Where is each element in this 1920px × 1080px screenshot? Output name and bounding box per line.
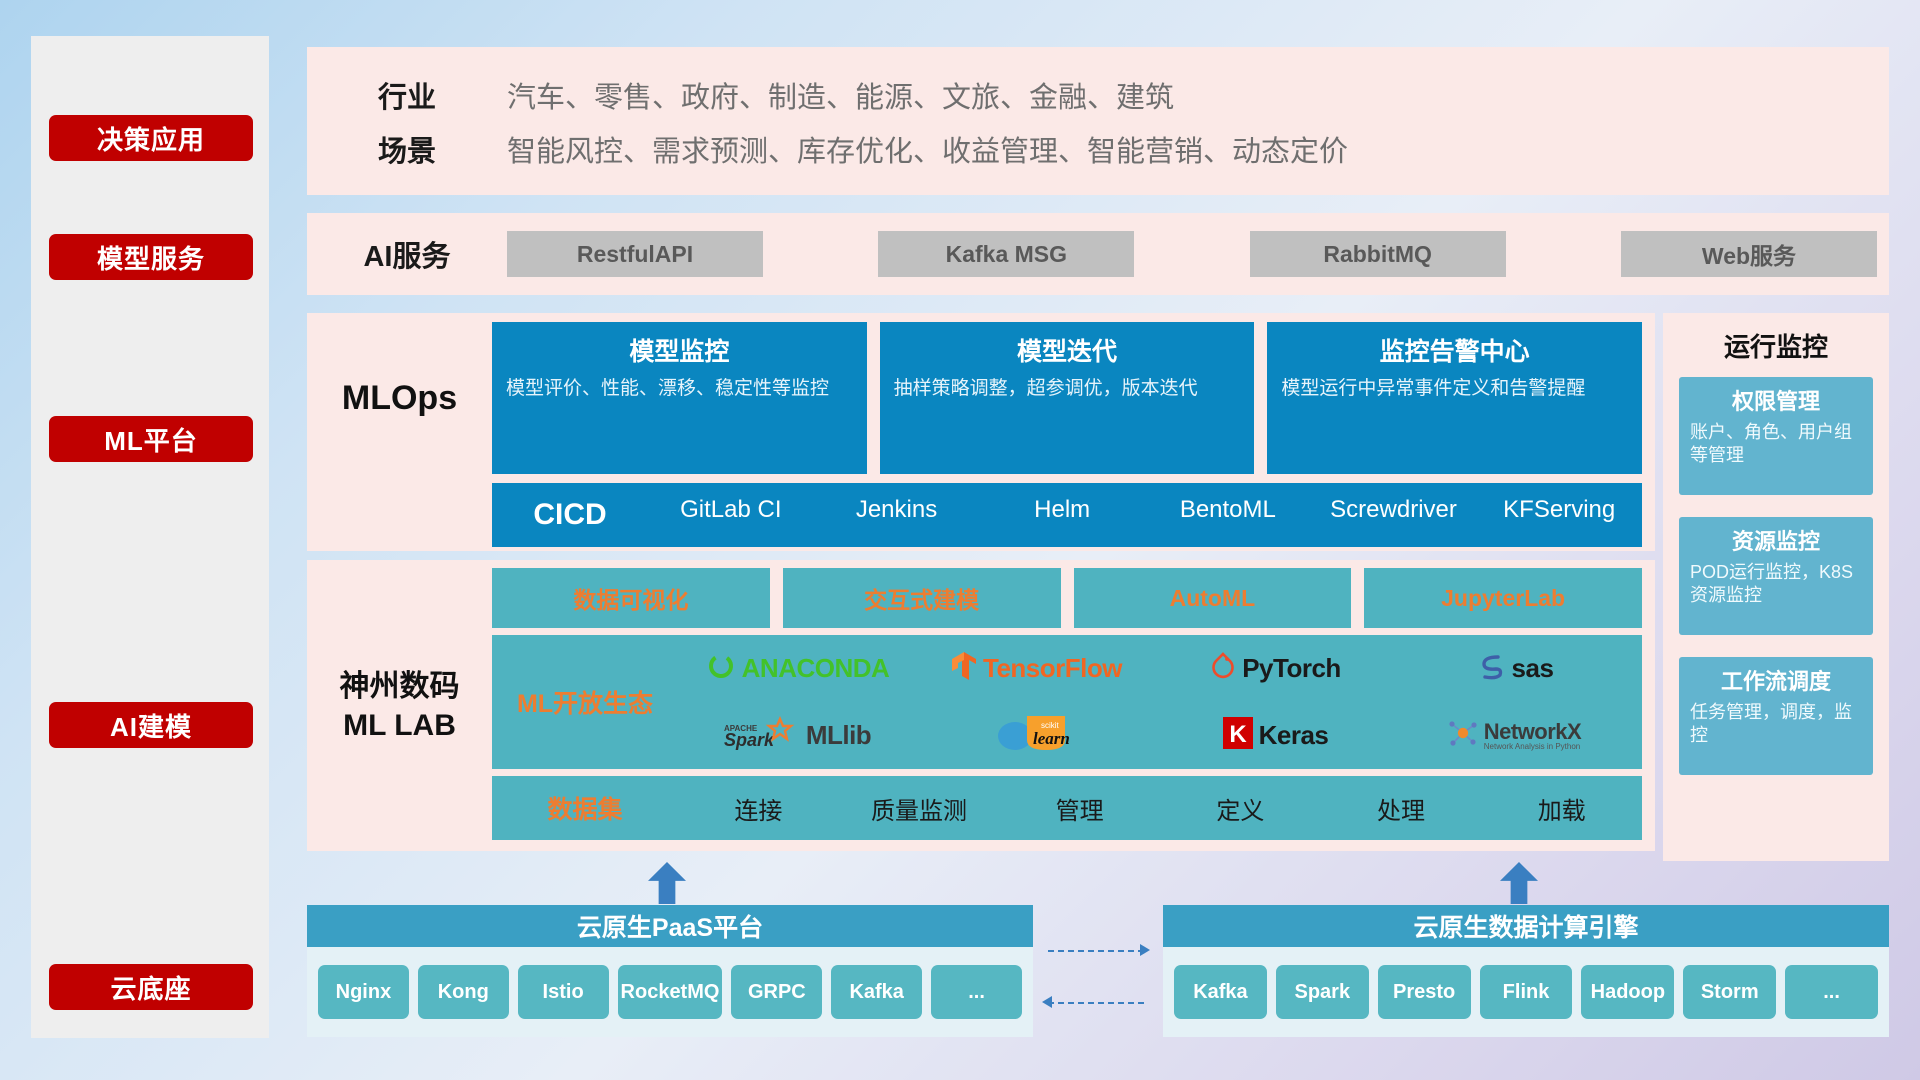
- ai-service-chip-restfulapi[interactable]: RestfulAPI: [507, 231, 763, 277]
- arrow-right-head-icon: [1140, 944, 1150, 956]
- svg-text:learn: learn: [1033, 729, 1070, 748]
- mlops-card-model-monitoring[interactable]: 模型监控 模型评价、性能、漂移、稳定性等监控: [492, 322, 867, 474]
- scenario-list: 智能风控、需求预测、库存优化、收益管理、智能营销、动态定价: [507, 128, 1348, 170]
- arrow-up-engine-icon: [1500, 862, 1538, 904]
- runtime-monitor-panel: 运行监控 权限管理 账户、角色、用户组等管理 资源监控 POD运行监控，K8S资…: [1663, 313, 1889, 861]
- scikit-learn-icon: scikit learn: [993, 712, 1081, 759]
- cloud-data-engine-block: 云原生数据计算引擎 Kafka Spark Presto Flink Hadoo…: [1163, 905, 1889, 1037]
- engine-chip-spark[interactable]: Spark: [1276, 965, 1369, 1019]
- ml-lab-tile-group: 数据可视化 交互式建模 AutoML JupyterLab: [492, 568, 1642, 628]
- rail-item-ai-modeling[interactable]: AI建模: [49, 702, 253, 748]
- cloud-chip-rocketmq[interactable]: RocketMQ: [618, 965, 723, 1019]
- cloud-data-engine-chip-group: Kafka Spark Presto Flink Hadoop Storm ..…: [1163, 947, 1889, 1037]
- ecosystem-logo-grid: ANACONDA TensorFlow: [678, 635, 1642, 769]
- dataset-item-quality-monitoring[interactable]: 质量监测: [839, 791, 1000, 826]
- arrow-left-dashed-icon: [1048, 1002, 1144, 1004]
- industry-row: 行业 汽车、零售、政府、制造、能源、文旅、金融、建筑: [307, 69, 1889, 121]
- svg-text:K: K: [1229, 721, 1247, 748]
- arrow-left-head-icon: [1042, 996, 1052, 1008]
- cloud-chip-kafka[interactable]: Kafka: [831, 965, 922, 1019]
- ml-lab-label-line1: 神州数码: [340, 667, 460, 706]
- scenario-label: 场景: [307, 128, 507, 170]
- dataset-item-processing[interactable]: 处理: [1321, 791, 1482, 826]
- cloud-chip-istio[interactable]: Istio: [518, 965, 609, 1019]
- ai-service-chip-track: RestfulAPI Kafka MSG RabbitMQ Web服务: [507, 231, 1889, 277]
- ml-open-ecosystem-label: ML开放生态: [492, 684, 678, 720]
- dataset-item-loading[interactable]: 加载: [1481, 791, 1642, 826]
- card-desc: POD运行监控，K8S资源监控: [1690, 561, 1862, 608]
- cicd-item-bentoml[interactable]: BentoML: [1145, 495, 1311, 525]
- left-rail: 决策应用 模型服务 ML平台 AI建模 云底座: [31, 36, 269, 1038]
- cicd-bar: CICD GitLab CI Jenkins Helm BentoML Scre…: [492, 483, 1642, 547]
- cloud-paas-block: 云原生PaaS平台 Nginx Kong Istio RocketMQ GRPC…: [307, 905, 1033, 1037]
- arrow-up-paas-icon: [648, 862, 686, 904]
- logo-anaconda: ANACONDA: [706, 635, 890, 702]
- cloud-chip-kong[interactable]: Kong: [418, 965, 509, 1019]
- cicd-item-screwdriver[interactable]: Screwdriver: [1311, 495, 1477, 525]
- industry-list: 汽车、零售、政府、制造、能源、文旅、金融、建筑: [507, 74, 1174, 116]
- logo-label: NetworkX: [1484, 721, 1581, 743]
- logo-tensorflow: TensorFlow: [951, 635, 1122, 702]
- logo-label: TensorFlow: [983, 653, 1122, 684]
- logo-scikit-learn: scikit learn: [993, 702, 1081, 769]
- engine-chip-flink[interactable]: Flink: [1480, 965, 1573, 1019]
- ai-service-label: AI服务: [307, 233, 507, 275]
- cloud-data-engine-title: 云原生数据计算引擎: [1163, 905, 1889, 947]
- rail-item-cloud-base[interactable]: 云底座: [49, 964, 253, 1010]
- decision-apps-panel: 行业 汽车、零售、政府、制造、能源、文旅、金融、建筑 场景 智能风控、需求预测、…: [307, 47, 1889, 195]
- engine-chip-hadoop[interactable]: Hadoop: [1581, 965, 1674, 1019]
- pytorch-icon: [1210, 651, 1236, 686]
- card-title: 工作流调度: [1690, 664, 1862, 696]
- logo-label: Keras: [1259, 720, 1329, 751]
- logo-label: sas: [1512, 653, 1554, 684]
- cicd-item-helm[interactable]: Helm: [979, 495, 1145, 525]
- arrow-right-dashed-icon: [1048, 950, 1144, 952]
- card-desc: 模型评价、性能、漂移、稳定性等监控: [506, 376, 853, 401]
- mlops-card-group: 模型监控 模型评价、性能、漂移、稳定性等监控 模型迭代 抽样策略调整，超参调优，…: [492, 322, 1642, 474]
- ai-service-chip-rabbitmq[interactable]: RabbitMQ: [1250, 231, 1506, 277]
- ml-lab-panel: 神州数码 ML LAB 数据可视化 交互式建模 AutoML JupyterLa…: [307, 560, 1655, 851]
- dataset-item-group: 连接 质量监测 管理 定义 处理 加载: [678, 791, 1642, 826]
- card-desc: 账户、角色、用户组等管理: [1690, 421, 1862, 468]
- runtime-monitor-title: 运行监控: [1663, 327, 1889, 364]
- ai-service-chip-kafka-msg[interactable]: Kafka MSG: [878, 231, 1134, 277]
- industry-label: 行业: [307, 74, 507, 116]
- card-title: 权限管理: [1690, 384, 1862, 416]
- ml-lab-tile-automl[interactable]: AutoML: [1074, 568, 1352, 628]
- tensorflow-icon: [951, 651, 977, 686]
- cloud-paas-title: 云原生PaaS平台: [307, 905, 1033, 947]
- cloud-chip-more[interactable]: ...: [931, 965, 1022, 1019]
- dataset-band: 数据集 连接 质量监测 管理 定义 处理 加载: [492, 776, 1642, 840]
- card-desc: 任务管理，调度，监控: [1690, 701, 1862, 748]
- ml-lab-label: 神州数码 ML LAB: [307, 560, 492, 851]
- monitor-card-permission[interactable]: 权限管理 账户、角色、用户组等管理: [1679, 377, 1873, 495]
- card-title: 模型监控: [506, 332, 853, 368]
- dataset-item-definition[interactable]: 定义: [1160, 791, 1321, 826]
- cloud-chip-grpc[interactable]: GRPC: [731, 965, 822, 1019]
- logo-spark-mllib: APACHE Spark MLlib: [724, 702, 871, 769]
- dataset-label: 数据集: [492, 790, 678, 826]
- sas-icon: [1476, 651, 1506, 686]
- engine-chip-kafka[interactable]: Kafka: [1174, 965, 1267, 1019]
- architecture-diagram: 决策应用 模型服务 ML平台 AI建模 云底座 行业 汽车、零售、政府、制造、能…: [0, 0, 1920, 1080]
- networkx-subtitle: Network Analysis in Python: [1484, 743, 1581, 751]
- cicd-label: CICD: [492, 498, 648, 532]
- logo-pytorch: PyTorch: [1210, 635, 1341, 702]
- ai-service-panel: AI服务 RestfulAPI Kafka MSG RabbitMQ Web服务: [307, 213, 1889, 295]
- cloud-chip-nginx[interactable]: Nginx: [318, 965, 409, 1019]
- logo-label: ANACONDA: [742, 653, 890, 684]
- ml-lab-tile-jupyterlab[interactable]: JupyterLab: [1364, 568, 1642, 628]
- rail-item-model-service[interactable]: 模型服务: [49, 234, 253, 280]
- ml-lab-tile-interactive-modeling[interactable]: 交互式建模: [783, 568, 1061, 628]
- engine-chip-storm[interactable]: Storm: [1683, 965, 1776, 1019]
- svg-text:Spark: Spark: [724, 730, 775, 750]
- cicd-item-kfserving[interactable]: KFServing: [1476, 495, 1642, 525]
- cicd-item-jenkins[interactable]: Jenkins: [814, 495, 980, 525]
- cicd-item-group: GitLab CI Jenkins Helm BentoML Screwdriv…: [648, 483, 1642, 547]
- monitor-card-workflow[interactable]: 工作流调度 任务管理，调度，监控: [1679, 657, 1873, 775]
- rail-item-decision-apps[interactable]: 决策应用: [49, 115, 253, 161]
- engine-chip-presto[interactable]: Presto: [1378, 965, 1471, 1019]
- engine-chip-more[interactable]: ...: [1785, 965, 1878, 1019]
- mlops-panel: MLOps 模型监控 模型评价、性能、漂移、稳定性等监控 模型迭代 抽样策略调整…: [307, 313, 1655, 551]
- card-title: 模型迭代: [894, 332, 1241, 368]
- dataset-item-connect[interactable]: 连接: [678, 791, 839, 826]
- dataset-item-management[interactable]: 管理: [999, 791, 1160, 826]
- card-title: 监控告警中心: [1281, 332, 1628, 368]
- cloud-paas-chip-group: Nginx Kong Istio RocketMQ GRPC Kafka ...: [307, 947, 1033, 1037]
- ml-open-ecosystem-band: ML开放生态 ANACONDA: [492, 635, 1642, 769]
- mlops-label: MLOps: [307, 313, 492, 483]
- ml-lab-tile-data-visualization[interactable]: 数据可视化: [492, 568, 770, 628]
- monitor-card-resource[interactable]: 资源监控 POD运行监控，K8S资源监控: [1679, 517, 1873, 635]
- scenario-row: 场景 智能风控、需求预测、库存优化、收益管理、智能营销、动态定价: [307, 123, 1889, 175]
- cicd-item-gitlab-ci[interactable]: GitLab CI: [648, 495, 814, 525]
- card-desc: 抽样策略调整，超参调优，版本迭代: [894, 376, 1241, 401]
- networkx-icon: [1448, 718, 1478, 753]
- spark-icon: APACHE Spark: [724, 716, 800, 755]
- rail-item-ml-platform[interactable]: ML平台: [49, 416, 253, 462]
- card-desc: 模型运行中异常事件定义和告警提醒: [1281, 376, 1628, 401]
- keras-icon: K: [1223, 717, 1253, 754]
- ai-service-chip-web-service[interactable]: Web服务: [1621, 231, 1877, 277]
- anaconda-icon: [706, 651, 736, 686]
- logo-networkx: NetworkX Network Analysis in Python: [1448, 702, 1581, 769]
- ml-lab-label-line2: ML LAB: [343, 706, 456, 745]
- logo-label: MLlib: [806, 720, 871, 751]
- logo-label: PyTorch: [1242, 653, 1341, 684]
- mlops-card-model-iteration[interactable]: 模型迭代 抽样策略调整，超参调优，版本迭代: [880, 322, 1255, 474]
- logo-keras: K Keras: [1223, 702, 1329, 769]
- mlops-card-alert-center[interactable]: 监控告警中心 模型运行中异常事件定义和告警提醒: [1267, 322, 1642, 474]
- logo-sas: sas: [1476, 635, 1554, 702]
- card-title: 资源监控: [1690, 524, 1862, 556]
